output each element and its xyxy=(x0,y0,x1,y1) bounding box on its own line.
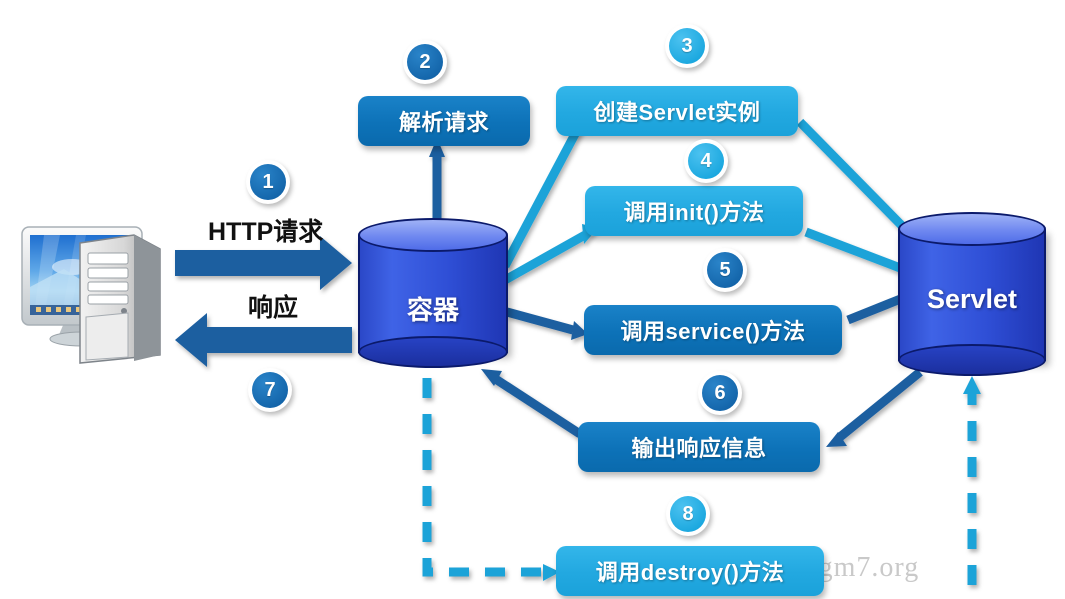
box-call-service-label: 调用service()方法 xyxy=(620,314,805,346)
step-badge-6-number: 6 xyxy=(702,375,738,411)
step-badge-3[interactable]: 3 xyxy=(665,24,709,68)
box-create-servlet[interactable]: 创建Servlet实例 xyxy=(556,86,798,136)
step-badge-8-number: 8 xyxy=(670,496,706,532)
box-call-init-label: 调用init()方法 xyxy=(624,195,765,227)
arrow-servlet-to-output xyxy=(826,372,920,447)
container-label: 容器 xyxy=(358,290,508,327)
step-badge-2[interactable]: 2 xyxy=(403,40,447,84)
response-label: 响应 xyxy=(248,288,298,324)
servlet-cylinder: Servlet xyxy=(898,212,1046,380)
box-call-init[interactable]: 调用init()方法 xyxy=(585,186,803,236)
step-badge-6[interactable]: 6 xyxy=(698,371,742,415)
cylinder-bottom-ellipse xyxy=(358,336,508,368)
arrow-container-to-parse xyxy=(429,138,445,225)
step-badge-5[interactable]: 5 xyxy=(703,248,747,292)
box-parse-request[interactable]: 解析请求 xyxy=(358,96,530,146)
box-call-destroy[interactable]: 调用destroy()方法 xyxy=(556,546,824,596)
box-parse-request-label: 解析请求 xyxy=(399,105,489,137)
box-output-response-label: 输出响应信息 xyxy=(631,431,766,463)
container-cylinder: 容器 xyxy=(358,218,508,368)
box-output-response[interactable]: 输出响应信息 xyxy=(578,422,820,472)
arrow-destroy-to-servlet-dashed xyxy=(963,376,981,585)
box-call-service[interactable]: 调用service()方法 xyxy=(584,305,842,355)
desktop-computer-icon xyxy=(14,205,164,365)
cylinder-bottom-ellipse xyxy=(898,344,1046,376)
step-badge-5-number: 5 xyxy=(707,252,743,288)
step-badge-4-number: 4 xyxy=(688,143,724,179)
step-badge-3-number: 3 xyxy=(669,28,705,64)
step-badge-2-number: 2 xyxy=(407,44,443,80)
cylinder-top-ellipse xyxy=(358,218,508,252)
step-badge-8[interactable]: 8 xyxy=(666,492,710,536)
http-request-label: HTTP请求 xyxy=(208,212,323,248)
step-badge-1-number: 1 xyxy=(250,164,286,200)
step-badge-7[interactable]: 7 xyxy=(248,368,292,412)
step-badge-1[interactable]: 1 xyxy=(246,160,290,204)
cylinder-top-ellipse xyxy=(898,212,1046,246)
box-create-servlet-label: 创建Servlet实例 xyxy=(594,95,761,127)
diagram-canvas: 容器 Servlet HTTP请求 响应 解析请求 创建Servlet实例 调用… xyxy=(0,0,1065,599)
step-badge-7-number: 7 xyxy=(252,372,288,408)
arrow-output-to-container xyxy=(481,369,580,434)
arrow-container-to-service xyxy=(507,312,588,340)
servlet-label: Servlet xyxy=(898,284,1046,315)
step-badge-4[interactable]: 4 xyxy=(684,139,728,183)
box-call-destroy-label: 调用destroy()方法 xyxy=(596,555,785,587)
